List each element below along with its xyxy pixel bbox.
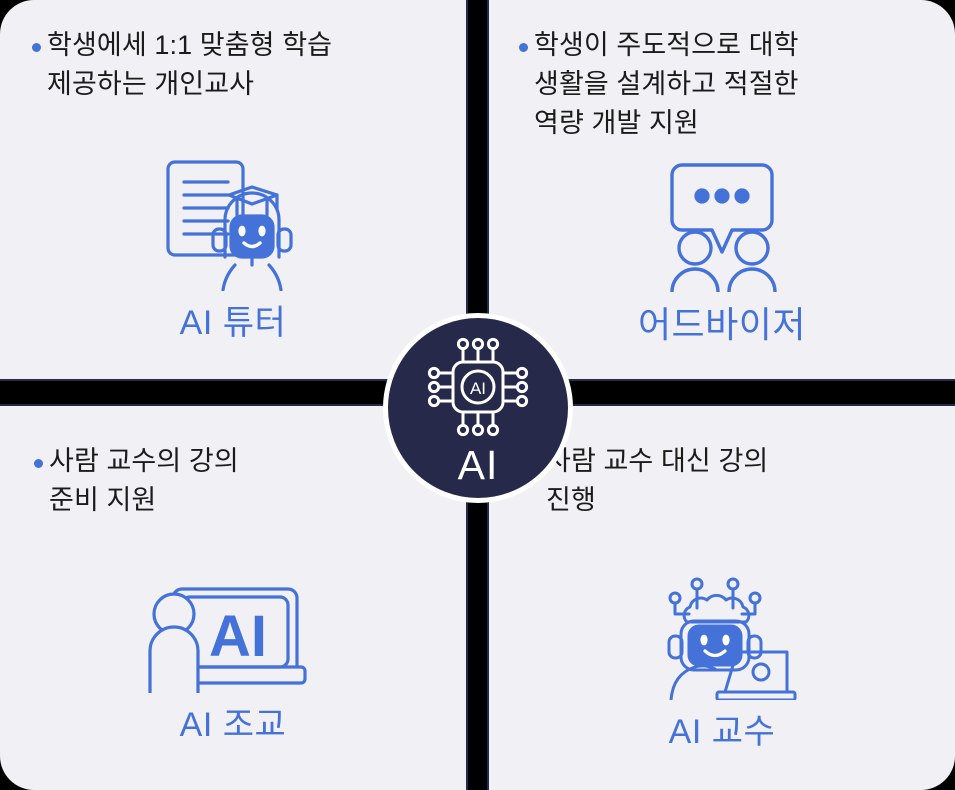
svg-text:AI: AI bbox=[470, 379, 486, 398]
role-block-ai-assistant: AI AI 조교 bbox=[0, 578, 466, 746]
role-label: AI 교수 bbox=[669, 704, 776, 753]
bullet-text: 학생에세 1:1 맞춤형 학습 제공하는 개인교사 bbox=[47, 26, 332, 104]
svg-text:AI: AI bbox=[209, 604, 267, 669]
person-laptop-ai-icon: AI bbox=[143, 578, 323, 693]
speech-bubble-two-people-icon bbox=[652, 160, 792, 292]
ai-chip-icon: AI bbox=[422, 337, 534, 443]
diagram-canvas: 학생에세 1:1 맞춤형 학습 제공하는 개인교사 bbox=[0, 0, 955, 790]
quadrant-card-ai-tutor[interactable]: 학생에세 1:1 맞춤형 학습 제공하는 개인교사 bbox=[0, 0, 468, 381]
bullet-list: 학생에세 1:1 맞춤형 학습 제공하는 개인교사 bbox=[32, 26, 440, 104]
role-label: AI 조교 bbox=[180, 697, 287, 746]
quadrant-card-advisor[interactable]: 학생이 주도적으로 대학 생활을 설계하고 적절한 역량 개발 지원 어드바이저 bbox=[487, 0, 955, 381]
hub-label: AI bbox=[458, 445, 499, 486]
list-item: 사람 교수의 강의 준비 지원 bbox=[34, 442, 440, 520]
robot-graduate-document-icon bbox=[157, 157, 309, 291]
quadrant-card-ai-assistant[interactable]: 사람 교수의 강의 준비 지원 AI AI 조교 bbox=[0, 404, 468, 790]
role-label: 어드바이저 bbox=[638, 296, 806, 348]
quadrant-card-ai-professor[interactable]: 사람 교수 대신 강의 진행 bbox=[487, 404, 955, 790]
role-label: AI 튜터 bbox=[180, 295, 287, 344]
bullet-text: 사람 교수 대신 강의 진행 bbox=[546, 442, 768, 520]
robot-brain-laptop-icon bbox=[647, 574, 797, 700]
bullet-list: 사람 교수 대신 강의 진행 bbox=[531, 442, 929, 520]
list-item: 학생이 주도적으로 대학 생활을 설계하고 적절한 역량 개발 지원 bbox=[519, 26, 935, 143]
bullet-text: 학생이 주도적으로 대학 생활을 설계하고 적절한 역량 개발 지원 bbox=[534, 26, 799, 143]
list-item: 학생에세 1:1 맞춤형 학습 제공하는 개인교사 bbox=[32, 26, 440, 104]
bullet-list: 학생이 주도적으로 대학 생활을 설계하고 적절한 역량 개발 지원 bbox=[519, 26, 935, 143]
bullet-dot-icon bbox=[519, 43, 528, 52]
role-block-ai-tutor: AI 튜터 bbox=[0, 157, 466, 344]
role-block-ai-professor: AI 교수 bbox=[489, 574, 955, 753]
role-block-advisor: 어드바이저 bbox=[489, 160, 955, 348]
center-hub-ai[interactable]: AI AI bbox=[383, 313, 573, 503]
bullet-list: 사람 교수의 강의 준비 지원 bbox=[34, 442, 440, 520]
bullet-text: 사람 교수의 강의 준비 지원 bbox=[49, 442, 239, 520]
list-item: 사람 교수 대신 강의 진행 bbox=[531, 442, 929, 520]
bullet-dot-icon bbox=[34, 459, 43, 468]
bullet-dot-icon bbox=[32, 43, 41, 52]
